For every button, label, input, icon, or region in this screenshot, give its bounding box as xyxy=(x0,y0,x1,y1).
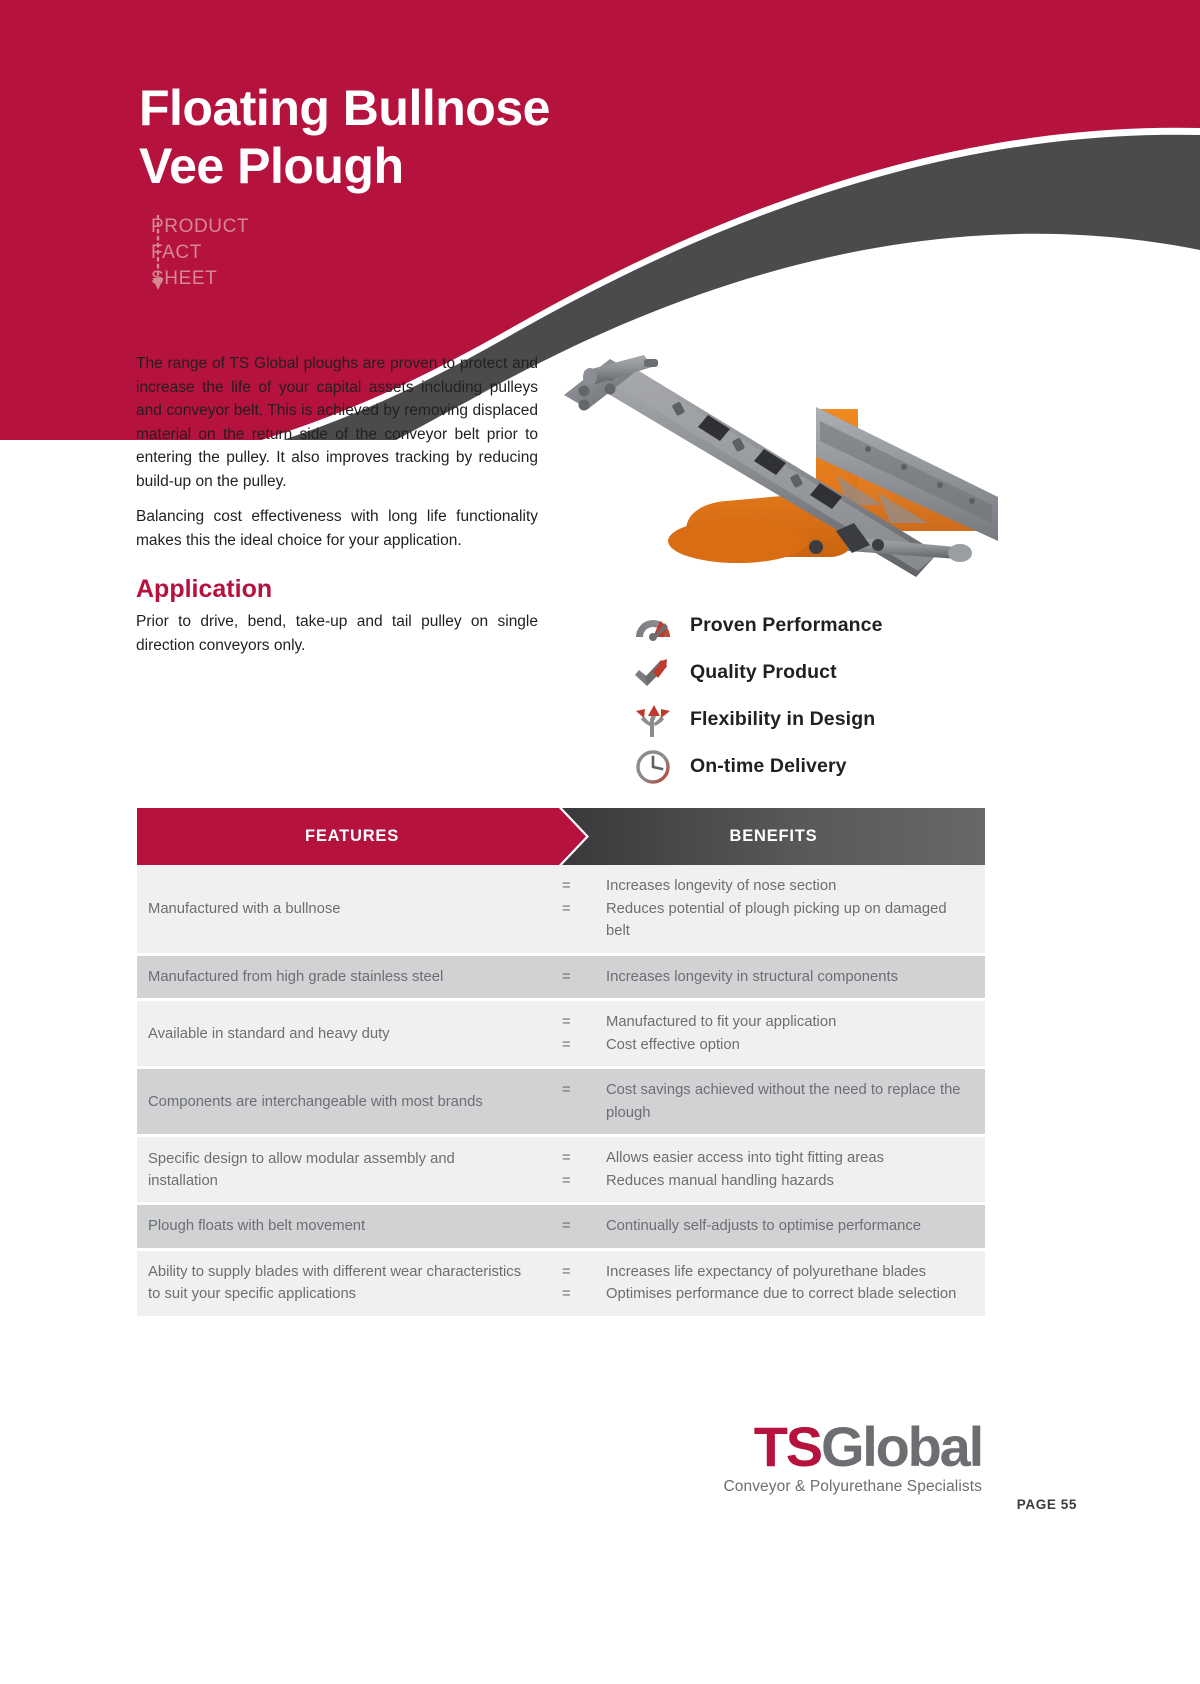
intro-text-column: The range of TS Global ploughs are prove… xyxy=(136,352,538,552)
table-cell-benefit: =Increases longevity in structural compo… xyxy=(562,956,985,999)
dotted-arrow-icon xyxy=(151,214,165,298)
logo-global-text: Global xyxy=(821,1415,982,1478)
table-cell-feature: Specific design to allow modular assembl… xyxy=(137,1138,562,1202)
benefit-item: =Reduces manual handling hazards xyxy=(562,1170,971,1193)
equals-symbol: = xyxy=(562,966,606,989)
equals-symbol: = xyxy=(562,898,606,921)
equals-symbol: = xyxy=(562,1011,606,1034)
equals-symbol: = xyxy=(562,1170,606,1193)
table-body: Manufactured with a bullnose=Increases l… xyxy=(137,865,985,1319)
benefit-text: Optimises performance due to correct bla… xyxy=(606,1283,971,1306)
benefit-item: =Increases life expectancy of polyuretha… xyxy=(562,1261,971,1284)
benefit-text: Manufactured to fit your application xyxy=(606,1011,971,1034)
logo-tagline: Conveyor & Polyurethane Specialists xyxy=(723,1478,982,1496)
benefit-item: =Cost effective option xyxy=(562,1034,971,1057)
company-logo: TSGlobal Conveyor & Polyurethane Special… xyxy=(723,1418,982,1496)
logo-wordmark: TSGlobal xyxy=(723,1418,982,1476)
plough-render-svg xyxy=(548,345,998,590)
table-cell-benefit: =Cost savings achieved without the need … xyxy=(562,1069,985,1134)
benefit-label-flexibility-in-design: Flexibility in Design xyxy=(690,708,875,731)
benefit-item: =Manufactured to fit your application xyxy=(562,1011,971,1034)
fact-sheet-line-product: PRODUCT xyxy=(151,214,249,240)
fact-sheet-line-fact: FACT xyxy=(151,240,249,266)
benefit-row-quality-product: Quality Product xyxy=(630,649,883,696)
page-title: Floating Bullnose Vee Plough xyxy=(139,79,550,195)
benefit-text: Reduces potential of plough picking up o… xyxy=(606,898,971,943)
equals-symbol: = xyxy=(562,875,606,898)
benefit-text: Increases longevity in structural compon… xyxy=(606,966,971,989)
equals-symbol: = xyxy=(562,1034,606,1057)
fact-sheet-line-sheet: SHEET xyxy=(151,266,249,292)
benefit-row-flexibility-in-design: Flexibility in Design xyxy=(630,696,883,743)
table-cell-benefit: =Continually self-adjusts to optimise pe… xyxy=(562,1205,985,1248)
benefit-item: =Reduces potential of plough picking up … xyxy=(562,898,971,943)
benefit-text: Allows easier access into tight fitting … xyxy=(606,1147,971,1170)
benefit-text: Increases life expectancy of polyurethan… xyxy=(606,1261,971,1284)
intro-paragraph-1: The range of TS Global ploughs are prove… xyxy=(136,352,538,493)
three-arrows-icon xyxy=(630,699,676,741)
application-text: Prior to drive, bend, take-up and tail p… xyxy=(136,610,538,657)
benefit-row-on-time-delivery: On-time Delivery xyxy=(630,743,883,790)
table-cell-benefit: =Increases life expectancy of polyuretha… xyxy=(562,1251,985,1316)
benefit-label-quality-product: Quality Product xyxy=(690,661,837,684)
benefit-item: =Optimises performance due to correct bl… xyxy=(562,1283,971,1306)
equals-symbol: = xyxy=(562,1215,606,1238)
table-cell-feature: Available in standard and heavy duty xyxy=(137,1013,562,1055)
benefit-item: =Allows easier access into tight fitting… xyxy=(562,1147,971,1170)
table-row: Specific design to allow modular assembl… xyxy=(137,1137,985,1205)
features-benefits-table: FEATURES BENEFITS Manufactured with a bu… xyxy=(137,808,985,1319)
product-image xyxy=(548,345,998,590)
table-header: FEATURES BENEFITS xyxy=(137,808,985,865)
table-row: Available in standard and heavy duty=Man… xyxy=(137,1001,985,1069)
table-row: Manufactured with a bullnose=Increases l… xyxy=(137,865,985,956)
equals-symbol: = xyxy=(562,1147,606,1170)
logo-ts-text: TS xyxy=(754,1415,821,1478)
benefit-label-on-time-delivery: On-time Delivery xyxy=(690,755,847,778)
speedometer-icon xyxy=(630,605,676,647)
table-row: Ability to supply blades with different … xyxy=(137,1251,985,1319)
benefits-icon-list: Proven Performance Quality Product xyxy=(630,602,883,790)
table-cell-feature: Plough floats with belt movement xyxy=(137,1205,562,1247)
intro-paragraph-2: Balancing cost effectiveness with long l… xyxy=(136,505,538,552)
benefit-text: Reduces manual handling hazards xyxy=(606,1170,971,1193)
table-cell-feature: Components are interchangeable with most… xyxy=(137,1081,562,1123)
table-cell-benefit: =Manufactured to fit your application=Co… xyxy=(562,1001,985,1066)
benefit-item: =Increases longevity in structural compo… xyxy=(562,966,971,989)
benefit-text: Cost effective option xyxy=(606,1034,971,1057)
benefit-text: Continually self-adjusts to optimise per… xyxy=(606,1215,971,1238)
benefit-row-proven-performance: Proven Performance xyxy=(630,602,883,649)
clock-icon xyxy=(630,746,676,788)
fact-sheet-block: PRODUCT FACT SHEET xyxy=(151,214,249,292)
equals-symbol: = xyxy=(562,1283,606,1306)
benefit-item: =Continually self-adjusts to optimise pe… xyxy=(562,1215,971,1238)
benefit-text: Cost savings achieved without the need t… xyxy=(606,1079,971,1124)
checkmark-icon xyxy=(630,652,676,694)
application-heading: Application xyxy=(136,575,272,604)
table-header-features: FEATURES xyxy=(137,808,567,865)
equals-symbol: = xyxy=(562,1079,606,1102)
table-header-benefits: BENEFITS xyxy=(562,808,985,865)
table-cell-feature: Ability to supply blades with different … xyxy=(137,1251,562,1315)
table-cell-benefit: =Allows easier access into tight fitting… xyxy=(562,1137,985,1202)
table-row: Manufactured from high grade stainless s… xyxy=(137,956,985,1002)
equals-symbol: = xyxy=(562,1261,606,1284)
table-cell-feature: Manufactured from high grade stainless s… xyxy=(137,956,562,998)
page-number: PAGE 55 xyxy=(1017,1497,1077,1512)
table-cell-feature: Manufactured with a bullnose xyxy=(137,888,562,930)
table-row: Plough floats with belt movement=Continu… xyxy=(137,1205,985,1251)
benefit-item: =Increases longevity of nose section xyxy=(562,875,971,898)
benefit-text: Increases longevity of nose section xyxy=(606,875,971,898)
benefit-label-proven-performance: Proven Performance xyxy=(690,614,883,637)
table-row: Components are interchangeable with most… xyxy=(137,1069,985,1137)
benefit-item: =Cost savings achieved without the need … xyxy=(562,1079,971,1124)
table-cell-benefit: =Increases longevity of nose section=Red… xyxy=(562,865,985,953)
